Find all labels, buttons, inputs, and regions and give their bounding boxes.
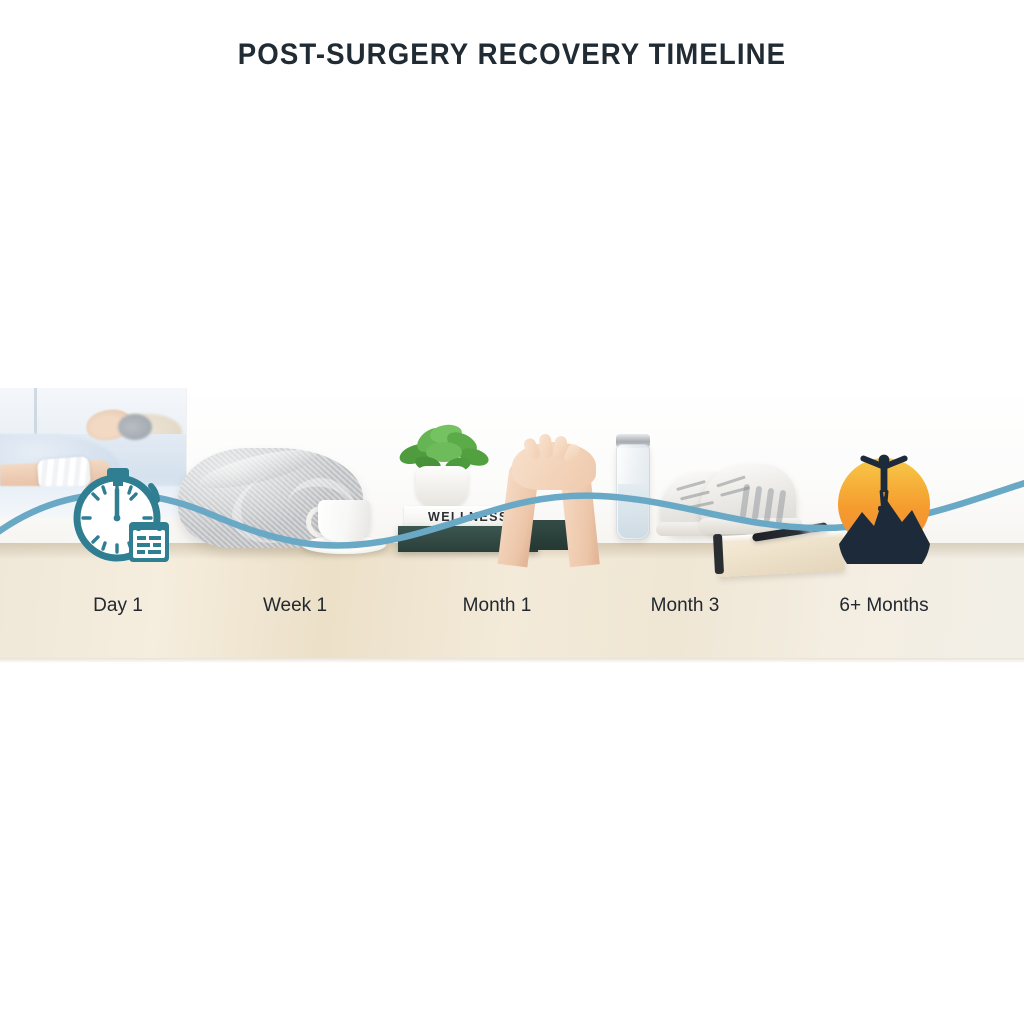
stage-label-6-months: 6+ Months: [839, 595, 928, 617]
stage-label-week-1: Week 1: [263, 595, 327, 617]
stage-label-month-1: Month 1: [463, 595, 532, 617]
infographic-canvas: POST-SURGERY RECOVERY TIMELINE: [0, 0, 1024, 1024]
stage-label-month-3: Month 3: [651, 595, 720, 617]
page-title: POST-SURGERY RECOVERY TIMELINE: [41, 38, 983, 72]
stage-labels: Day 1 Week 1 Month 1 Month 3 6+ Months: [0, 595, 1024, 629]
stopwatch-icon: [67, 460, 175, 568]
mountain-summit-icon: [822, 440, 946, 564]
stage-label-day-1: Day 1: [93, 595, 143, 617]
